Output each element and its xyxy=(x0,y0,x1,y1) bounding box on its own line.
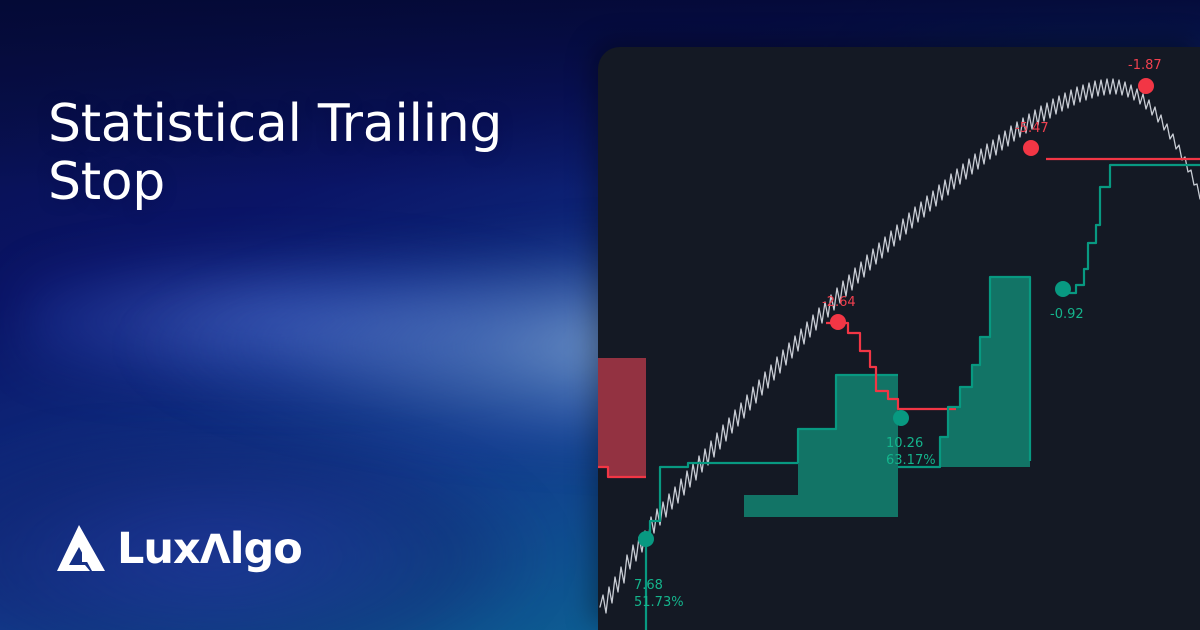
entry-long-2-pct-label: 63.17% xyxy=(886,453,936,468)
logo-wordmark: LuxΛlgo xyxy=(117,528,302,571)
chart-panel[interactable]: 7.6851.73%-2.6410.2663.17%-5.47-0.92-1.8… xyxy=(598,47,1200,630)
logo-triangle-icon xyxy=(52,524,106,574)
chart-labels: 7.6851.73%-2.6410.2663.17%-5.47-0.92-1.8… xyxy=(634,58,1162,610)
exit-short-2-value-label: -5.47 xyxy=(1015,121,1049,136)
exit-short-3-dot[interactable] xyxy=(1138,78,1154,94)
logo-text-lgo: lgo xyxy=(230,528,302,571)
exit-short-2-dot[interactable] xyxy=(1023,140,1039,156)
page-title: Statistical Trailing Stop xyxy=(48,95,568,211)
banner-root: Statistical Trailing Stop LuxΛlgo 7.6851… xyxy=(0,0,1200,630)
entry-long-3-dot[interactable] xyxy=(1055,281,1071,297)
entry-long-1-value-label: 7.68 xyxy=(634,578,663,593)
logo-lambda-icon: Λ xyxy=(200,530,230,570)
exit-short-1-value-label: -2.64 xyxy=(822,295,856,310)
exit-short-1-dot[interactable] xyxy=(830,314,846,330)
entry-long-1-pct-label: 51.73% xyxy=(634,595,684,610)
trailing-stop-chart[interactable]: 7.6851.73%-2.6410.2663.17%-5.47-0.92-1.8… xyxy=(598,47,1200,630)
entry-long-1-dot[interactable] xyxy=(638,531,654,547)
bull-zone-2 xyxy=(940,277,1030,467)
entry-long-3-value-label: -0.92 xyxy=(1050,307,1084,322)
chart-series xyxy=(598,79,1200,630)
entry-long-2-value-label: 10.26 xyxy=(886,436,923,451)
logo-text-lux: Lux xyxy=(117,528,200,571)
exit-short-3-value-label: -1.87 xyxy=(1128,58,1162,73)
bear-zone-1 xyxy=(598,358,646,477)
trailing-stop-bull-4 xyxy=(1060,165,1200,293)
chart-fills xyxy=(598,277,1030,517)
entry-long-2-dot[interactable] xyxy=(893,410,909,426)
brand-logo: LuxΛlgo xyxy=(52,524,302,574)
